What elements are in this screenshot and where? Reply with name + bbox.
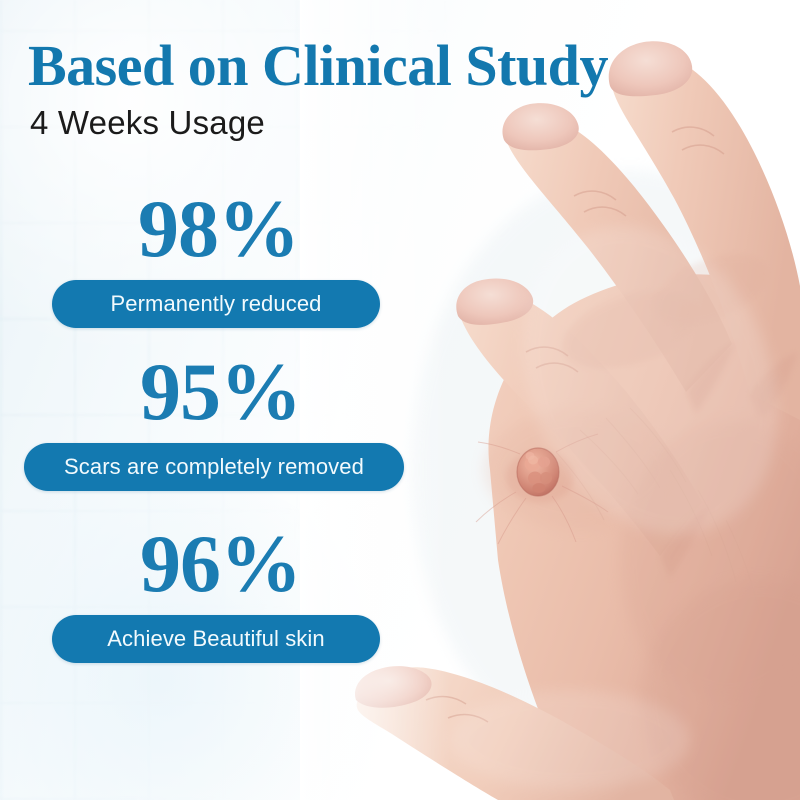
infographic-canvas: Based on Clinical Study 4 Weeks Usage 98…	[0, 0, 800, 800]
stat-label-pill-1[interactable]: Permanently reduced	[52, 280, 380, 328]
stat-value-3: 96%	[140, 523, 301, 605]
stat-block-2: 95% Scars are completely removed	[0, 351, 430, 501]
stat-value-2: 95%	[140, 351, 301, 433]
stat-label-pill-2[interactable]: Scars are completely removed	[24, 443, 404, 491]
stat-label-text-1: Permanently reduced	[110, 291, 321, 317]
stat-label-text-3: Achieve Beautiful skin	[107, 626, 324, 652]
page-subtitle: 4 Weeks Usage	[30, 106, 265, 139]
stat-value-1: 98%	[138, 188, 299, 270]
stat-label-pill-3[interactable]: Achieve Beautiful skin	[52, 615, 380, 663]
stat-block-1: 98% Permanently reduced	[0, 188, 430, 338]
page-title: Based on Clinical Study	[28, 37, 608, 95]
stat-block-3: 96% Achieve Beautiful skin	[0, 523, 430, 673]
stat-label-text-2: Scars are completely removed	[64, 454, 364, 480]
